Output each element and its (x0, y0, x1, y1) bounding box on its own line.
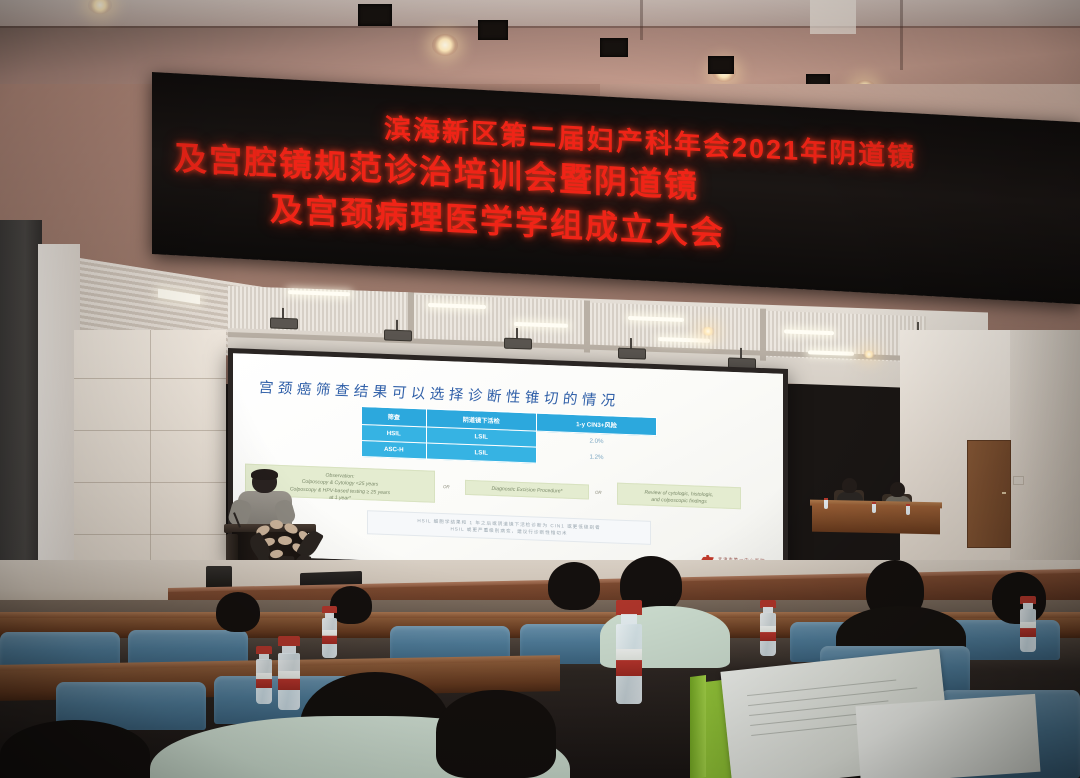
ceiling-downlight (432, 34, 458, 56)
ceiling-seam (900, 0, 903, 70)
ceiling-vent (478, 20, 508, 40)
audience-head (216, 592, 260, 632)
ceiling-vent (600, 38, 628, 57)
slide-note-box: HSIL 细胞学结果和 1 年之后或阴道镜下活检诊断为 CIN1 或更低级别者 … (367, 510, 651, 545)
ceiling-vent (358, 4, 392, 26)
ceiling-slab (0, 0, 1080, 26)
option-box-excision: Diagnostic Excision Procedure* (465, 480, 589, 500)
ceiling-seam (640, 0, 643, 40)
water-bottle (278, 636, 300, 710)
table-cell: ASC-H (362, 441, 427, 459)
water-bottle-nongfu (616, 600, 642, 704)
audience-head-foreground (436, 690, 556, 778)
option-box-review: Review of cytologic, histologic, and col… (617, 483, 741, 510)
ceiling-panel (810, 0, 856, 34)
ceiling-vent (708, 56, 734, 74)
audience-head (548, 562, 600, 610)
green-folder-spine (690, 675, 706, 778)
water-bottle (906, 504, 910, 515)
water-bottle (872, 502, 876, 513)
water-bottle (760, 600, 776, 656)
table-header-cell: 筛查 (362, 407, 427, 427)
door-handle[interactable] (1002, 492, 1006, 494)
audience-head (992, 572, 1046, 624)
handout-papers-secondary[interactable] (855, 694, 1040, 778)
table-cell: LSIL (426, 443, 536, 463)
or-label: OR (443, 484, 450, 489)
panel-table (812, 504, 940, 535)
wall-plate (1013, 476, 1024, 485)
water-bottle (1020, 596, 1036, 652)
ceiling-seam (0, 26, 1080, 28)
lecture-hall-photo: 滨海新区第二届妇产科年会2021年阴道镜 及宫腔镜规范诊治培训会暨阴道镜 及宫颈… (0, 0, 1080, 778)
slide-title: 宫颈癌筛查结果可以选择诊断性锥切的情况 (258, 376, 621, 410)
water-bottle (256, 646, 272, 704)
side-door[interactable] (967, 440, 1011, 548)
option-line: Diagnostic Excision Procedure* (470, 485, 584, 497)
or-label: OR (595, 490, 602, 495)
water-bottle (824, 498, 828, 509)
slide-data-table: 筛查 阴道镜下活检 1-y CIN3+风险 HSIL LSIL 2.0% ASC… (361, 406, 657, 468)
water-bottle (322, 606, 337, 658)
table-cell: 1.2% (536, 447, 656, 468)
speaker-hair-front (251, 469, 278, 480)
